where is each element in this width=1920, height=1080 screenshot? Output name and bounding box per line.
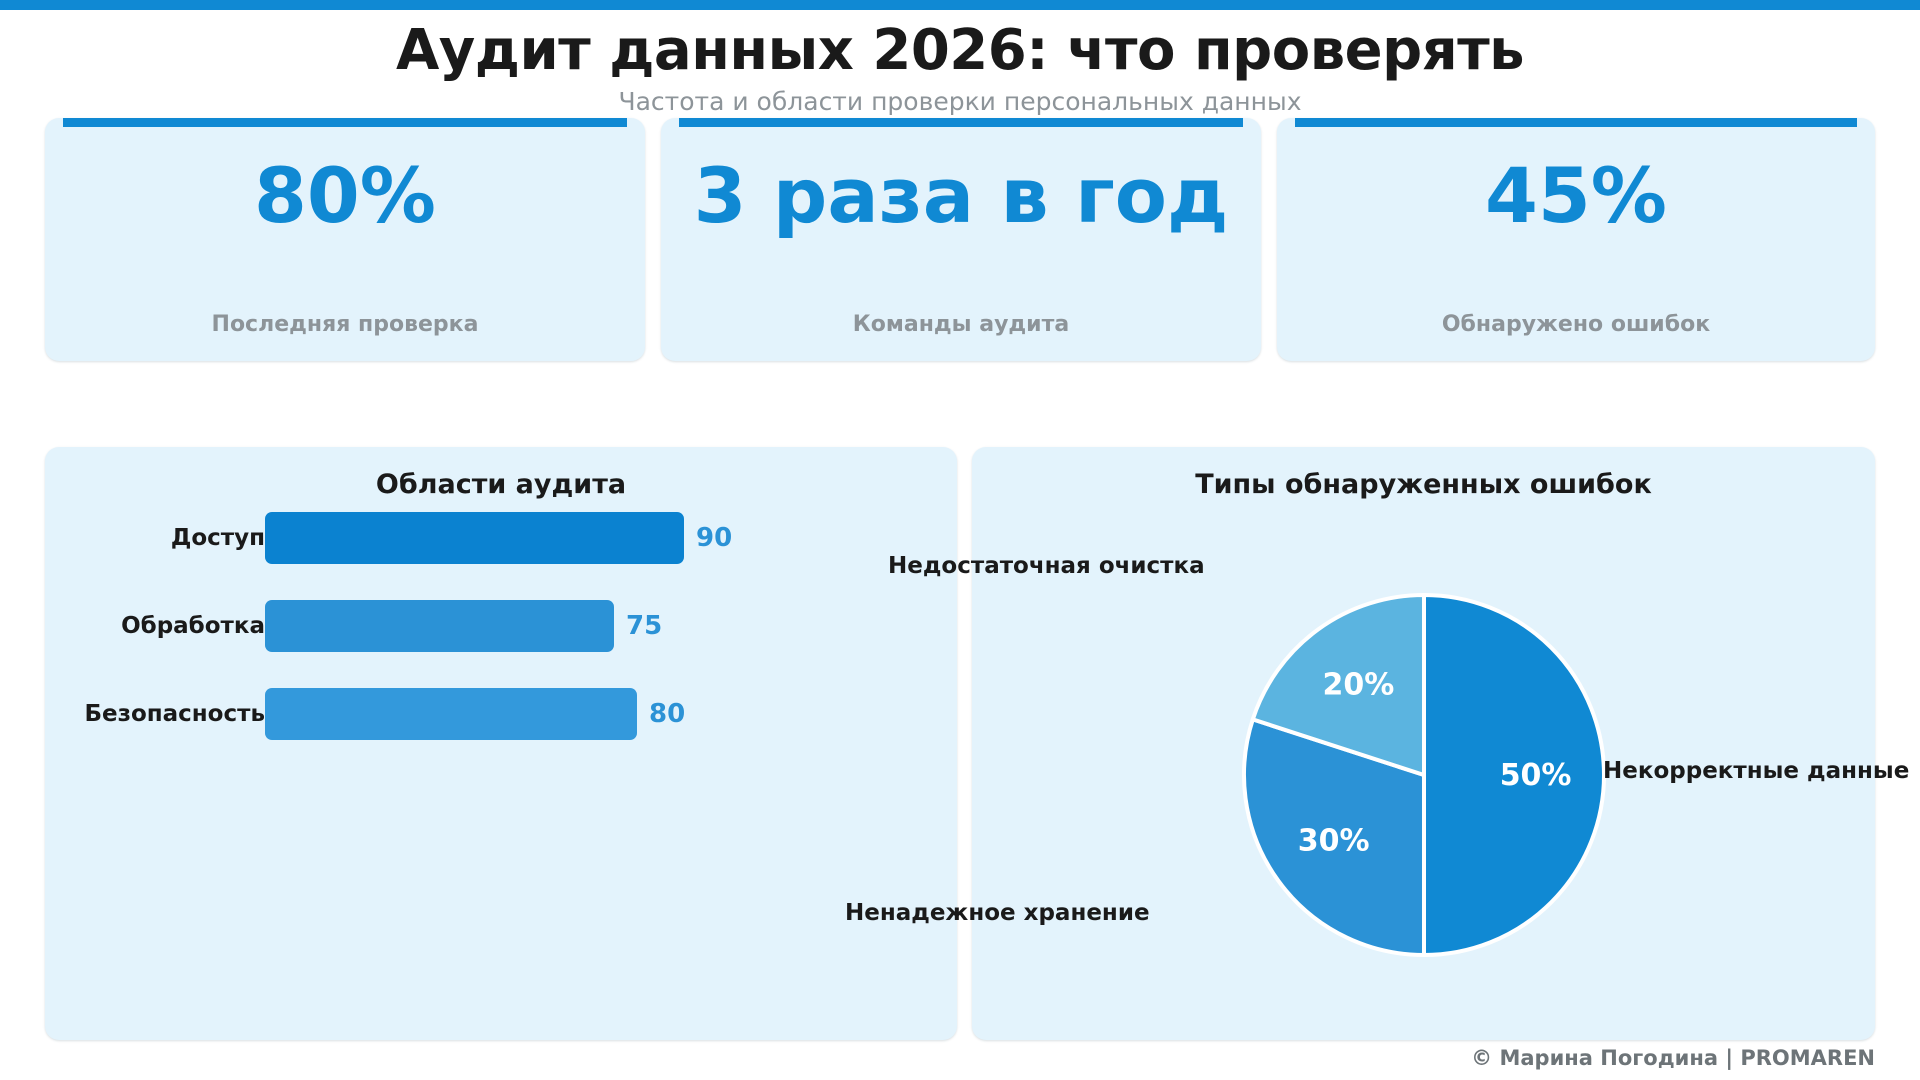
bar-value-label: 90 bbox=[696, 510, 732, 566]
bar-rect[interactable] bbox=[265, 512, 684, 564]
bar-category-label: Безопасность bbox=[84, 686, 265, 742]
bar-value-label: 80 bbox=[649, 686, 685, 742]
bar-category-label: Обработка bbox=[121, 598, 265, 654]
pie-chart-panel: Типы обнаруженных ошибок 50%30%20% bbox=[972, 447, 1875, 1040]
kpi-label: Последняя проверка bbox=[45, 312, 645, 337]
bar-row: Доступ90 bbox=[45, 510, 957, 566]
bar-chart-panel: Области аудита Доступ90Обработка75Безопа… bbox=[45, 447, 957, 1040]
pie-label-insufficient-cleaning: Недостаточная очистка bbox=[888, 553, 1205, 579]
top-accent-bar bbox=[0, 0, 1920, 10]
card-accent-bar bbox=[1295, 118, 1857, 127]
bar-rect[interactable] bbox=[265, 688, 637, 740]
bar-row: Обработка75 bbox=[45, 598, 957, 654]
bar-chart-plot: Доступ90Обработка75Безопасность80 bbox=[45, 447, 957, 1040]
kpi-value: 3 раза в год bbox=[661, 154, 1261, 238]
page-header: Аудит данных 2026: что проверять Частота… bbox=[0, 10, 1920, 116]
footer-credit: © Марина Погодина | PROMAREN bbox=[1471, 1046, 1875, 1070]
pie-percent-label: 30% bbox=[1298, 824, 1370, 859]
kpi-card-last-check: 80% Последняя проверка bbox=[45, 118, 645, 361]
kpi-value: 80% bbox=[45, 154, 645, 238]
kpi-card-audit-teams: 3 раза в год Команды аудита bbox=[661, 118, 1261, 361]
kpi-label: Обнаружено ошибок bbox=[1277, 312, 1875, 337]
pie-percent-label: 50% bbox=[1500, 758, 1572, 793]
pie-label-incorrect-data: Некорректные данные bbox=[1603, 758, 1909, 784]
page-title: Аудит данных 2026: что проверять bbox=[0, 22, 1920, 81]
pie-label-unreliable-storage: Ненадежное хранение bbox=[845, 900, 1150, 926]
bar-value-label: 75 bbox=[626, 598, 662, 654]
kpi-card-errors-found: 45% Обнаружено ошибок bbox=[1277, 118, 1875, 361]
card-accent-bar bbox=[679, 118, 1243, 127]
card-accent-bar bbox=[63, 118, 627, 127]
kpi-label: Команды аудита bbox=[661, 312, 1261, 337]
kpi-value: 45% bbox=[1277, 154, 1875, 238]
bar-rect[interactable] bbox=[265, 600, 614, 652]
page-subtitle: Частота и области проверки персональных … bbox=[0, 87, 1920, 116]
bar-row: Безопасность80 bbox=[45, 686, 957, 742]
pie-chart-plot: 50%30%20% bbox=[972, 447, 1875, 1040]
bar-category-label: Доступ bbox=[171, 510, 265, 566]
pie-percent-label: 20% bbox=[1322, 668, 1394, 703]
